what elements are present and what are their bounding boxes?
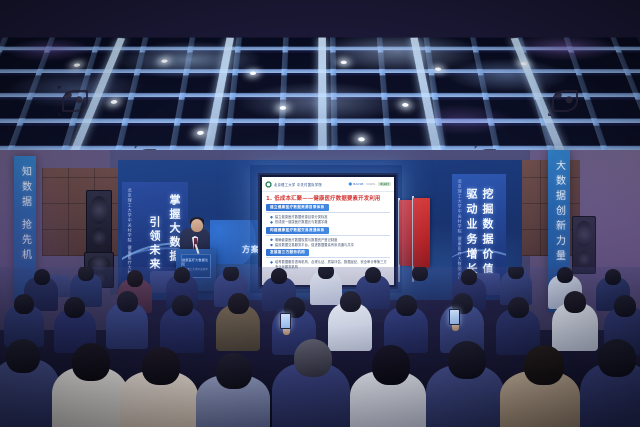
audience — [0, 267, 640, 427]
ceiling-spotlight — [341, 61, 347, 64]
slide-section-rule — [266, 235, 390, 236]
presenter-head — [191, 219, 203, 232]
slide-bullet: 建立健康医疗数据资源目录分类标准 — [266, 215, 390, 219]
partner-logo-a: BACSB — [348, 182, 363, 186]
slide-header: 北京理工大学 中关村国际学院 BACSB CQUS 中关村 — [262, 177, 394, 192]
smartphone — [280, 313, 291, 329]
bullet-diamond-icon — [270, 216, 273, 219]
slide-bullet-text: 明确健康医疗数据权属与数据资产登记制度 — [275, 238, 337, 242]
attendee-head — [365, 267, 381, 283]
slide-bullet-text: 建立健康医疗数据资源目录分类标准 — [275, 215, 328, 219]
university-emblem-icon — [265, 181, 272, 188]
slide-bullet: 形成统一健康医疗数据元与数据字典 — [266, 220, 390, 224]
bullet-diamond-icon — [270, 261, 273, 264]
bullet-diamond-icon — [270, 221, 273, 224]
bullet-diamond-icon — [270, 244, 273, 247]
attendee-head — [508, 297, 529, 318]
corbel-ornament — [58, 86, 92, 116]
slide-section-heading: 建立健康医疗数据资源目录体系 — [266, 204, 329, 211]
attendee-head — [271, 268, 287, 284]
conference-hall-photo: 知数据 抢先机 大数据创新力量 北京理工大学中关村学院 健康医疗大数据论坛 掌握… — [0, 0, 640, 427]
attendee-head — [598, 339, 636, 377]
mid-panel-circle — [210, 220, 256, 264]
attendee-head — [216, 353, 252, 389]
attendee-head — [396, 295, 417, 316]
slide-section: 构建健康医疗数据交易流通体系 明确健康医疗数据权属与数据资产登记制度 建设数据交… — [266, 227, 390, 248]
attendee-head — [14, 294, 34, 314]
corbel-ornament — [548, 86, 582, 116]
slide-bullet: 明确健康医疗数据权属与数据资产登记制度 — [266, 238, 390, 242]
attendee-head — [6, 339, 40, 373]
attendee-head — [294, 339, 332, 377]
slide-partner-logos: BACSB CQUS 中关村 — [348, 182, 391, 186]
attendee-head — [117, 291, 138, 312]
slide-bullet-text: 建设数据交易服务平台，促进数据要素有序流通与共享 — [275, 243, 354, 247]
attendee-head — [72, 343, 110, 381]
attendee-head — [127, 270, 143, 287]
slide-section-rule — [266, 257, 390, 258]
slide-section-heading: 构建健康医疗数据交易流通体系 — [266, 227, 329, 234]
attendee-head — [605, 269, 621, 285]
attendee-head — [223, 267, 239, 281]
ceiling-spotlight — [435, 67, 442, 70]
attendee-head — [318, 267, 334, 279]
slide-bullet-text: 形成统一健康医疗数据元与数据字典 — [275, 220, 328, 224]
attendee-head — [448, 341, 486, 379]
wall-banner-left-text: 知数据 抢先机 — [18, 166, 33, 264]
stage-poster-left-headline-2: 引领未来 — [146, 216, 162, 272]
slide-section-rule — [266, 212, 390, 213]
attendee-head — [614, 295, 636, 317]
attendee-head — [564, 291, 586, 313]
slide-org-name: 北京理工大学 中关村国际学院 — [274, 182, 322, 187]
attendee-head — [172, 295, 193, 316]
slide-title: 1. 低成本汇聚——健康医疗数据要素开发利用 — [262, 192, 394, 203]
attendee-head — [78, 267, 94, 281]
attendee-head — [461, 269, 477, 285]
slide-org-block: 北京理工大学 中关村国际学院 — [265, 181, 322, 188]
wall-banner-right-text: 大数据创新力量 — [552, 160, 567, 265]
attendee-head — [228, 293, 249, 314]
ceiling-spotlight — [358, 137, 365, 141]
slide-section: 发展第三方服务机构 培育数据服务咨询机构、合规认证、质量评估、数据经纪、安全审计… — [266, 249, 390, 269]
partner-logo-c: 中关村 — [378, 182, 391, 186]
attendee-head — [340, 291, 361, 312]
attendee-head — [34, 269, 50, 285]
attendee-head — [412, 267, 428, 281]
wall-wood-panel-right — [514, 160, 580, 256]
attendee-head — [372, 345, 410, 385]
bullet-diamond-icon — [270, 238, 273, 241]
podium-sign-line-1: 健康医疗大数据论坛 — [182, 258, 210, 266]
slide-bullet: 建设数据交易服务平台，促进数据要素有序流通与共享 — [266, 243, 390, 247]
attendee-head — [508, 267, 524, 279]
partner-logo-b: CQUS — [366, 182, 375, 186]
attendee-head — [64, 297, 85, 318]
pa-speaker-left — [86, 190, 112, 254]
smartphone — [449, 309, 460, 325]
national-flag — [413, 198, 430, 268]
attendee-head — [524, 345, 564, 385]
slide-section: 建立健康医疗数据资源目录体系 建立健康医疗数据资源目录分类标准 形成统一健康医疗… — [266, 204, 390, 225]
pa-speaker-right — [572, 216, 596, 274]
slide-section-heading: 发展第三方服务机构 — [266, 249, 309, 256]
attendee-head — [174, 267, 190, 283]
attendee-head — [557, 267, 573, 283]
attendee-head — [142, 347, 180, 385]
ceiling-spotlight — [402, 103, 409, 107]
ceiling-spotlight — [520, 62, 527, 65]
